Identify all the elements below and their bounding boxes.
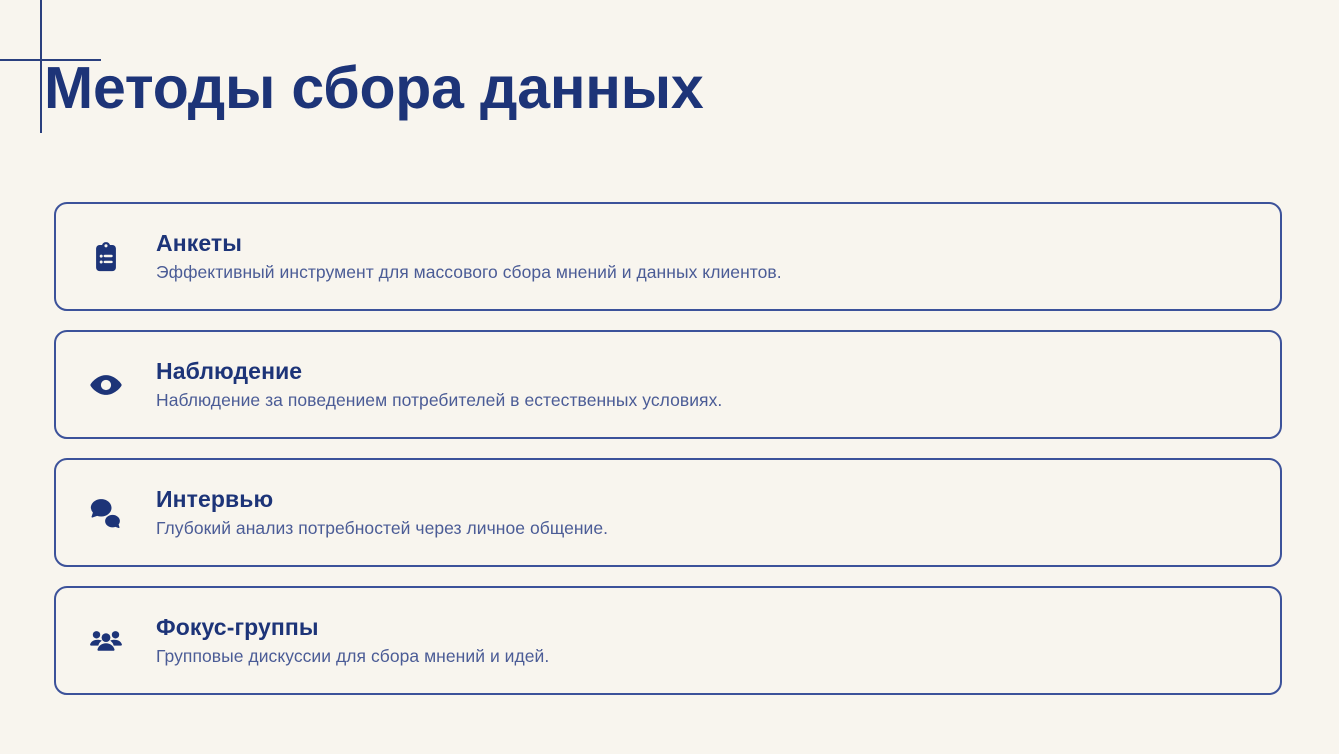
eye-icon [78,357,134,413]
method-card-title: Фокус-группы [156,613,549,642]
slide-root: Методы сбора данных Анкеты Эффективный и… [0,0,1339,754]
method-card-text: Наблюдение Наблюдение за поведением потр… [156,357,722,412]
method-card-title: Анкеты [156,229,782,258]
method-card[interactable]: Интервью Глубокий анализ потребностей че… [54,458,1282,567]
chat-bubbles-icon [78,485,134,541]
method-card-description: Глубокий анализ потребностей через лично… [156,517,608,541]
method-card-description: Групповые дискуссии для сбора мнений и и… [156,645,549,669]
method-card-text: Анкеты Эффективный инструмент для массов… [156,229,782,284]
method-card[interactable]: Анкеты Эффективный инструмент для массов… [54,202,1282,311]
method-card-title: Интервью [156,485,608,514]
page-title: Методы сбора данных [44,54,704,122]
method-card[interactable]: Наблюдение Наблюдение за поведением потр… [54,330,1282,439]
method-card[interactable]: Фокус-группы Групповые дискуссии для сбо… [54,586,1282,695]
method-card-description: Наблюдение за поведением потребителей в … [156,389,722,413]
clipboard-list-icon [78,229,134,285]
method-card-description: Эффективный инструмент для массового сбо… [156,261,782,285]
method-card-title: Наблюдение [156,357,722,386]
people-group-icon [78,613,134,669]
method-card-list: Анкеты Эффективный инструмент для массов… [54,202,1282,695]
crosshair-vertical-line [40,0,42,133]
method-card-text: Фокус-группы Групповые дискуссии для сбо… [156,613,549,668]
method-card-text: Интервью Глубокий анализ потребностей че… [156,485,608,540]
